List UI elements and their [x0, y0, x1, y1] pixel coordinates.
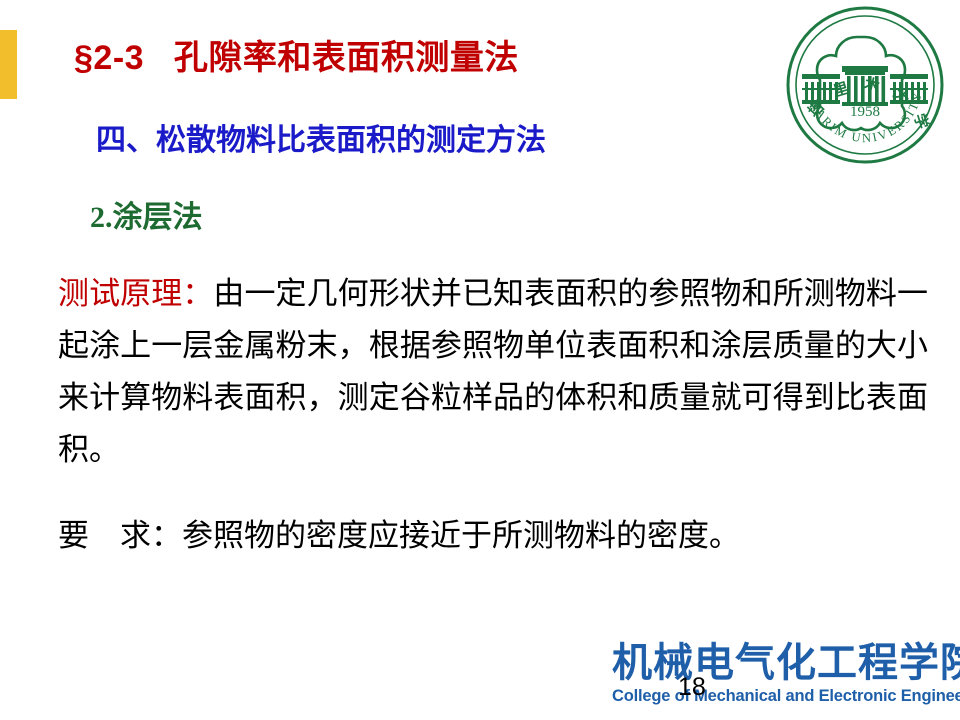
college-name-en: College of Mechanical and Electronic Eng… — [612, 686, 960, 706]
college-logo: 机械电气化工程学院 College of Mechanical and Elec… — [612, 640, 960, 706]
section-subheading: 四、松散物料比表面积的测定方法 — [96, 122, 796, 160]
college-name-cn: 机械电气化工程学院 — [612, 640, 960, 686]
method-heading: 2.涂层法 — [90, 199, 203, 237]
principle-paragraph: 测试原理：由一定几何形状并已知表面积的参照物和所测物料一起涂上一层金属粉末，根据… — [58, 268, 928, 476]
requirement-text: 参照物的密度应接近于所测物料的密度。 — [182, 518, 740, 553]
accent-bar — [0, 30, 17, 99]
requirement-label: 要 求： — [58, 518, 182, 553]
principle-label: 测试原理： — [58, 276, 213, 311]
body-content: 测试原理：由一定几何形状并已知表面积的参照物和所测物料一起涂上一层金属粉末，根据… — [58, 268, 928, 476]
seal-year: 1958 — [850, 104, 880, 120]
tarim-university-seal-icon: 塔里木大学 1958 TARIM UNIVERSITY — [784, 4, 946, 166]
slide-canvas: §2-3 孔隙率和表面积测量法 四、松散物料比表面积的测定方法 2.涂层法 测试… — [0, 0, 960, 720]
page-number: 18 — [678, 673, 706, 701]
requirement-paragraph: 要 求：参照物的密度应接近于所测物料的密度。 — [58, 512, 938, 560]
page-title: §2-3 孔隙率和表面积测量法 — [74, 36, 774, 80]
